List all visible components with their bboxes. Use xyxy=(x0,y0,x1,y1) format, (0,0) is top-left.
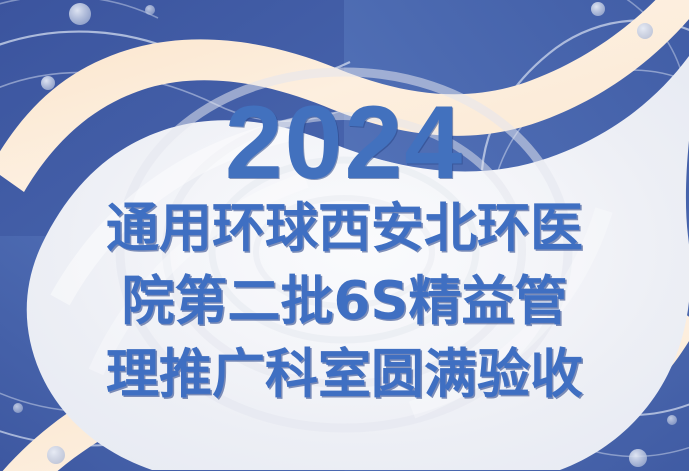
background-decoration xyxy=(0,0,689,471)
poster-canvas: 2024 通用环球西安北环医 院第二批6S精益管 理推广科室圆满验收 xyxy=(0,0,689,471)
